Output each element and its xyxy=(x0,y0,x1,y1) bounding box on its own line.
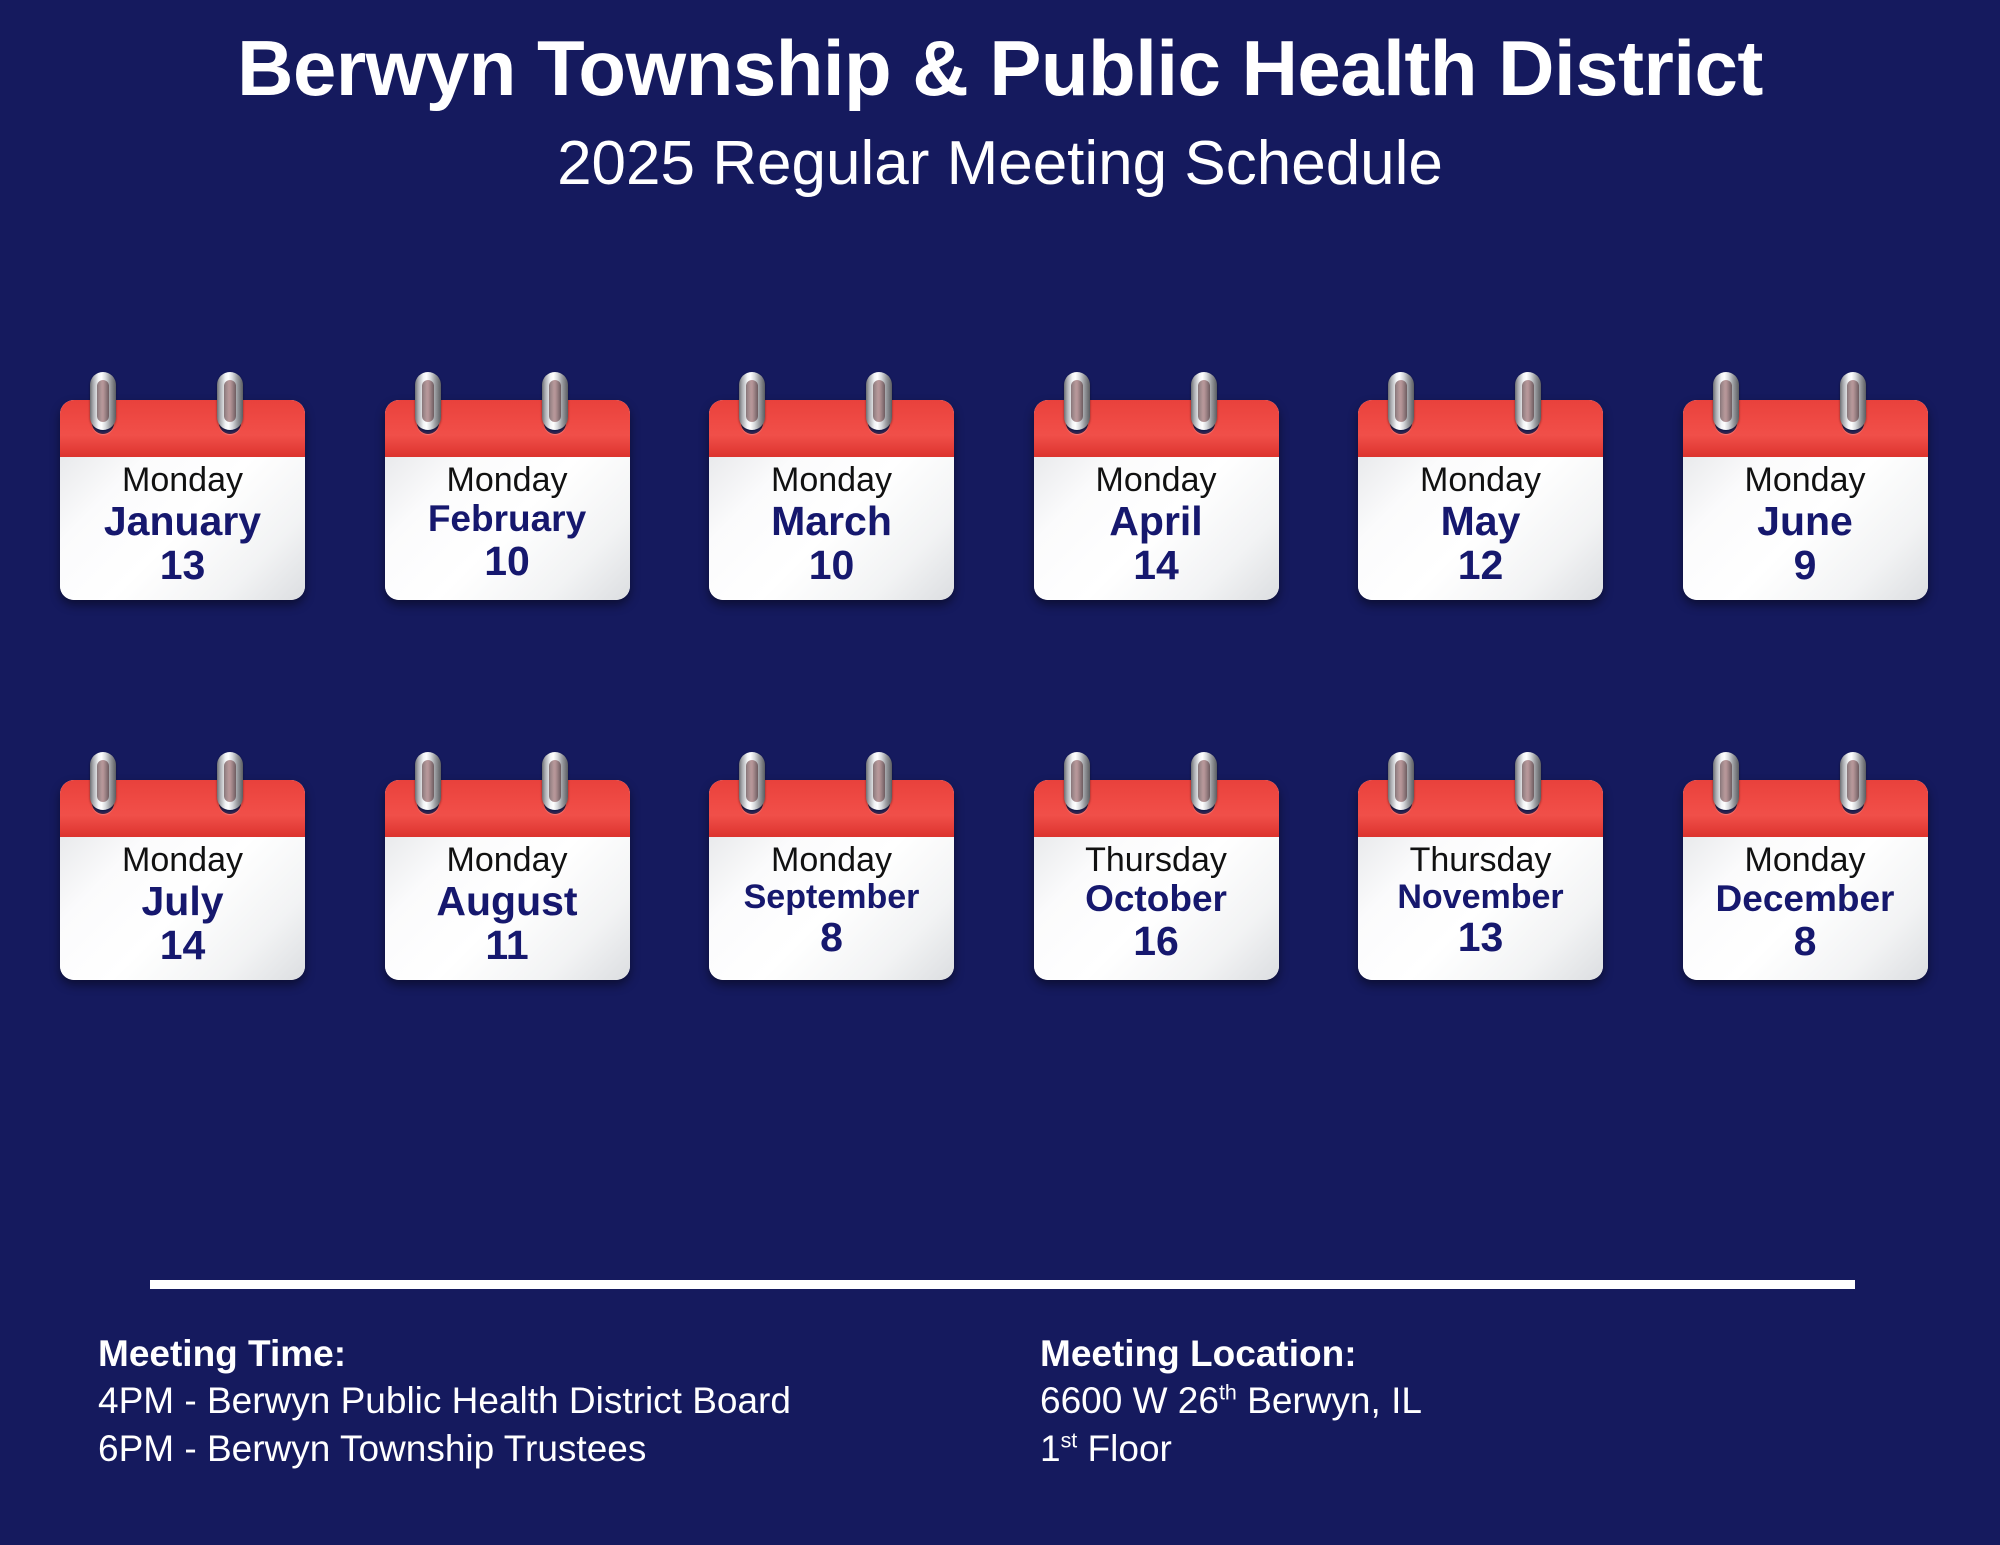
calendar-card-header xyxy=(709,400,954,457)
calendar-day-number: 14 xyxy=(60,923,305,967)
calendar-card-header xyxy=(1358,400,1603,457)
ring-hole-right-icon xyxy=(544,412,566,434)
address-ordinal-suffix: th xyxy=(1219,1381,1237,1405)
calendar-month: May xyxy=(1358,499,1603,543)
poster-title: Berwyn Township & Public Health District xyxy=(0,28,2000,110)
calendar-card[interactable]: MondayApril14 xyxy=(1034,400,1279,600)
calendar-card-body: MondayApril14 xyxy=(1034,457,1279,600)
calendar-weekday: Monday xyxy=(385,461,630,500)
calendar-card[interactable]: MondayDecember8 xyxy=(1683,780,1928,980)
ring-hole-left-icon xyxy=(1390,412,1412,434)
calendar-card-body: MondayMarch10 xyxy=(709,457,954,600)
calendar-month: December xyxy=(1683,879,1928,919)
calendar-day-number: 16 xyxy=(1034,919,1279,963)
ring-hole-right-icon xyxy=(1517,412,1539,434)
calendar-card-march[interactable]: MondayMarch10 xyxy=(709,400,967,600)
calendar-day-number: 13 xyxy=(60,543,305,587)
calendar-row-first-half: MondayJanuary13MondayFebruary10MondayMar… xyxy=(60,400,1940,600)
floor-label: Floor xyxy=(1077,1428,1172,1469)
ring-hole-right-icon xyxy=(1842,792,1864,814)
calendar-month: June xyxy=(1683,499,1928,543)
calendar-card-header xyxy=(1034,400,1279,457)
calendar-card-header xyxy=(385,780,630,837)
ring-hole-left-icon xyxy=(1066,792,1088,814)
ring-hole-right-icon xyxy=(868,412,890,434)
calendar-card-body: MondayAugust11 xyxy=(385,837,630,980)
meeting-location-heading: Meeting Location: xyxy=(1040,1330,1422,1377)
calendar-card-header xyxy=(60,780,305,837)
meeting-location-floor: 1st Floor xyxy=(1040,1425,1422,1472)
calendar-weekday: Monday xyxy=(385,841,630,880)
poster-footer: Meeting Time: 4PM - Berwyn Public Health… xyxy=(0,1330,2000,1545)
ring-hole-left-icon xyxy=(417,412,439,434)
calendar-card-november[interactable]: ThursdayNovember13 xyxy=(1358,780,1616,980)
calendar-day-number: 10 xyxy=(709,543,954,587)
ring-hole-right-icon xyxy=(868,792,890,814)
calendar-card-body: MondayJune9 xyxy=(1683,457,1928,600)
calendar-card[interactable]: MondayAugust11 xyxy=(385,780,630,980)
ring-hole-right-icon xyxy=(1193,792,1215,814)
ring-hole-right-icon xyxy=(1517,792,1539,814)
ring-hole-right-icon xyxy=(219,792,241,814)
calendar-weekday: Monday xyxy=(1034,461,1279,500)
calendar-card-december[interactable]: MondayDecember8 xyxy=(1683,780,1941,980)
ring-hole-left-icon xyxy=(1715,792,1737,814)
calendar-day-number: 10 xyxy=(385,539,630,583)
calendar-card-header xyxy=(1358,780,1603,837)
meeting-time-block: Meeting Time: 4PM - Berwyn Public Health… xyxy=(98,1330,791,1472)
calendar-weekday: Thursday xyxy=(1358,841,1603,880)
calendar-weekday: Monday xyxy=(709,841,954,880)
calendar-month: August xyxy=(385,879,630,923)
floor-ordinal-suffix: st xyxy=(1061,1428,1078,1452)
calendar-card-header xyxy=(1034,780,1279,837)
calendar-month: February xyxy=(385,499,630,539)
calendar-card-header xyxy=(1683,780,1928,837)
footer-divider xyxy=(150,1280,1855,1289)
calendar-card-body: MondayFebruary10 xyxy=(385,457,630,600)
calendar-card[interactable]: ThursdayOctober16 xyxy=(1034,780,1279,980)
calendar-day-number: 8 xyxy=(709,915,954,959)
calendar-month: April xyxy=(1034,499,1279,543)
calendar-card[interactable]: MondayMay12 xyxy=(1358,400,1603,600)
calendar-day-number: 9 xyxy=(1683,543,1928,587)
ring-hole-left-icon xyxy=(92,792,114,814)
calendar-card-header xyxy=(60,400,305,457)
calendar-card-july[interactable]: MondayJuly14 xyxy=(60,780,318,980)
ring-hole-left-icon xyxy=(741,792,763,814)
ring-hole-left-icon xyxy=(1715,412,1737,434)
calendar-card[interactable]: ThursdayNovember13 xyxy=(1358,780,1603,980)
ring-hole-right-icon xyxy=(1193,412,1215,434)
calendar-card-header xyxy=(385,400,630,457)
calendar-card-september[interactable]: MondaySeptember8 xyxy=(709,780,967,980)
calendar-weekday: Monday xyxy=(60,841,305,880)
calendar-month: January xyxy=(60,499,305,543)
calendar-day-number: 11 xyxy=(385,923,630,967)
calendar-day-number: 14 xyxy=(1034,543,1279,587)
calendar-card-body: MondayJuly14 xyxy=(60,837,305,980)
calendar-card[interactable]: MondayJanuary13 xyxy=(60,400,305,600)
meeting-location-block: Meeting Location: 6600 W 26th Berwyn, IL… xyxy=(1040,1330,1422,1472)
ring-hole-left-icon xyxy=(1390,792,1412,814)
calendar-card-february[interactable]: MondayFebruary10 xyxy=(385,400,643,600)
calendar-card-header xyxy=(1683,400,1928,457)
meeting-time-heading: Meeting Time: xyxy=(98,1330,791,1377)
calendar-card-october[interactable]: ThursdayOctober16 xyxy=(1034,780,1292,980)
ring-hole-right-icon xyxy=(544,792,566,814)
calendar-card[interactable]: MondayFebruary10 xyxy=(385,400,630,600)
meeting-schedule-poster: Berwyn Township & Public Health District… xyxy=(0,0,2000,1545)
calendar-day-number: 12 xyxy=(1358,543,1603,587)
calendar-card-body: ThursdayNovember13 xyxy=(1358,837,1603,980)
calendar-card-body: MondaySeptember8 xyxy=(709,837,954,980)
calendar-card-body: MondayJanuary13 xyxy=(60,457,305,600)
calendar-card[interactable]: MondayMarch10 xyxy=(709,400,954,600)
ring-hole-left-icon xyxy=(741,412,763,434)
calendar-day-number: 8 xyxy=(1683,919,1928,963)
address-city-state: Berwyn, IL xyxy=(1237,1380,1422,1421)
calendar-card-body: MondayMay12 xyxy=(1358,457,1603,600)
ring-hole-left-icon xyxy=(92,412,114,434)
calendar-month: March xyxy=(709,499,954,543)
calendar-card-january[interactable]: MondayJanuary13 xyxy=(60,400,318,600)
poster-header: Berwyn Township & Public Health District… xyxy=(0,0,2000,199)
calendar-day-number: 13 xyxy=(1358,915,1603,959)
ring-hole-left-icon xyxy=(1066,412,1088,434)
calendar-month: October xyxy=(1034,879,1279,919)
ring-hole-right-icon xyxy=(1842,412,1864,434)
calendar-card[interactable]: MondayJune9 xyxy=(1683,400,1928,600)
ring-hole-right-icon xyxy=(219,412,241,434)
meeting-location-address: 6600 W 26th Berwyn, IL xyxy=(1040,1377,1422,1424)
calendar-weekday: Thursday xyxy=(1034,841,1279,880)
calendar-card[interactable]: MondaySeptember8 xyxy=(709,780,954,980)
floor-number: 1 xyxy=(1040,1428,1061,1469)
address-street-prefix: 6600 W 26 xyxy=(1040,1380,1219,1421)
calendar-card-june[interactable]: MondayJune9 xyxy=(1683,400,1941,600)
meeting-time-line-health-board: 4PM - Berwyn Public Health District Boar… xyxy=(98,1377,791,1424)
poster-subtitle: 2025 Regular Meeting Schedule xyxy=(0,128,2000,199)
calendar-card-body: ThursdayOctober16 xyxy=(1034,837,1279,980)
calendar-month: September xyxy=(709,879,954,916)
meeting-time-line-township-trustees: 6PM - Berwyn Township Trustees xyxy=(98,1425,791,1472)
calendar-row-second-half: MondayJuly14MondayAugust11MondaySeptembe… xyxy=(60,780,1940,980)
calendar-card-august[interactable]: MondayAugust11 xyxy=(385,780,643,980)
calendar-month: November xyxy=(1358,879,1603,916)
calendar-weekday: Monday xyxy=(709,461,954,500)
calendar-card[interactable]: MondayJuly14 xyxy=(60,780,305,980)
calendar-month: July xyxy=(60,879,305,923)
calendar-weekday: Monday xyxy=(1683,461,1928,500)
calendar-weekday: Monday xyxy=(60,461,305,500)
calendar-card-may[interactable]: MondayMay12 xyxy=(1358,400,1616,600)
calendar-card-april[interactable]: MondayApril14 xyxy=(1034,400,1292,600)
calendar-weekday: Monday xyxy=(1683,841,1928,880)
calendar-card-header xyxy=(709,780,954,837)
calendar-weekday: Monday xyxy=(1358,461,1603,500)
ring-hole-left-icon xyxy=(417,792,439,814)
calendar-card-body: MondayDecember8 xyxy=(1683,837,1928,980)
